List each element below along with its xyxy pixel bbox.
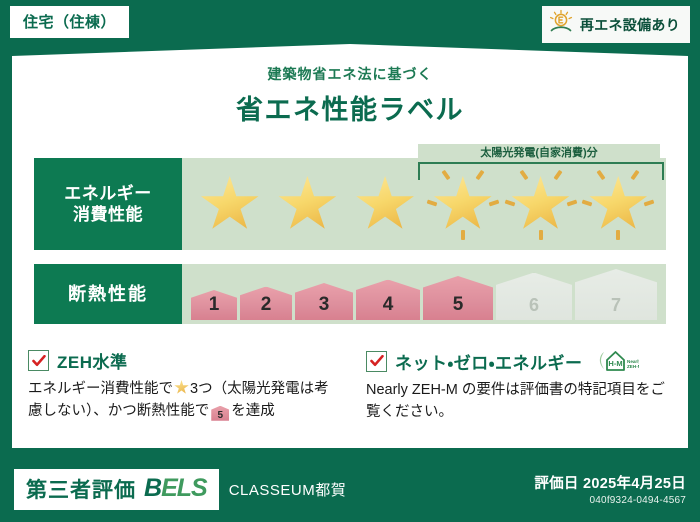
insulation-grade-item: 1 — [191, 290, 237, 320]
zeh-standard-description: エネルギー消費性能で3つ（太陽光発電は考慮しない）、かつ断熱性能で5を達成 — [28, 379, 334, 423]
building-name: CLASSEUM都賀 — [229, 479, 347, 500]
bels-logo-b: B — [144, 474, 161, 502]
energy-stars-area: 太陽光発電(自家消費)分 — [182, 158, 666, 250]
bels-logo: BELS — [144, 474, 207, 503]
info-section: ZEH水準 エネルギー消費性能で3つ（太陽光発電は考慮しない）、かつ断熱性能で5… — [12, 348, 688, 424]
insulation-grade-value: 2 — [261, 294, 272, 320]
star-icon — [433, 176, 493, 234]
insulation-grade-value: 1 — [209, 294, 220, 320]
insulation-grade-item: 7 — [575, 269, 657, 320]
star-icon — [588, 176, 648, 234]
star-icon — [200, 176, 260, 234]
net-zero-energy-column: ネット・ゼロ・エネルギー H-M Nearly ZEH-M Nearly ZEH… — [350, 348, 688, 424]
energy-performance-label: 住宅（住棟） 再エネ設備あり 建築物省エネ法に基づく 省エネ性能ラベル ハウスコ… — [0, 0, 700, 522]
check-icon — [366, 351, 387, 372]
star-sparkle-icon — [539, 230, 543, 240]
sun-renewable-icon — [548, 9, 574, 40]
insulation-grade-value: 5 — [453, 294, 464, 320]
net-zero-energy-title: ネット・ゼロ・エネルギー — [395, 349, 583, 374]
building-type-badge: 住宅（住棟） — [10, 6, 129, 38]
star-sparkle-icon — [582, 200, 593, 207]
renewable-energy-badge: 再エネ設備あり — [542, 6, 690, 43]
insulation-performance-row: 断熱性能 1234567 — [34, 264, 666, 324]
energy-label-line1: エネルギー — [64, 183, 152, 204]
insulation-grade-group: 1234567 — [182, 264, 666, 324]
star-icon — [174, 380, 189, 395]
star-icon — [277, 176, 337, 234]
star-sparkle-icon — [461, 230, 465, 240]
zeh-desc-part1: エネルギー消費性能で — [28, 381, 173, 397]
zeh-standard-title: ZEH水準 — [57, 348, 128, 373]
insulation-grade-item: 4 — [356, 280, 420, 321]
net-zero-energy-heading: ネット・ゼロ・エネルギー H-M Nearly ZEH-M — [366, 348, 672, 374]
building-type-label: 住宅（住棟） — [23, 14, 116, 31]
footer-bar: 第三者評価 BELS CLASSEUM都賀 評価日 2025年4月25日 040… — [0, 456, 700, 522]
insulation-grade-item: 3 — [295, 283, 353, 320]
renewable-energy-label: 再エネ設備あり — [580, 15, 680, 35]
label-main-title: 省エネ性能ラベル — [0, 88, 700, 127]
insulation-grade-value: 3 — [319, 294, 330, 320]
solar-portion-bracket — [418, 162, 664, 180]
check-icon — [28, 350, 49, 371]
zeh-m-logo: H-M Nearly ZEH-M — [595, 348, 639, 374]
star-rating-item — [194, 168, 266, 240]
zeh-standard-column: ZEH水準 エネルギー消費性能で3つ（太陽光発電は考慮しない）、かつ断熱性能で5… — [12, 348, 350, 424]
net-zero-energy-description: Nearly ZEH-M の要件は評価書の特記項目をご覧ください。 — [366, 380, 672, 424]
bels-logo-els: ELS — [161, 474, 207, 502]
energy-performance-row: エネルギー 消費性能 太陽光発電(自家消費)分 — [34, 158, 666, 250]
star-sparkle-icon — [488, 200, 499, 207]
insulation-grade-item: 5 — [423, 276, 493, 320]
bels-certification-badge: 第三者評価 BELS — [14, 469, 219, 510]
zeh-standard-heading: ZEH水準 — [28, 348, 334, 373]
footer-left-group: 第三者評価 BELS CLASSEUM都賀 — [14, 469, 346, 510]
insulation-grade-value: 4 — [383, 294, 394, 320]
zeh-desc-part3: を達成 — [231, 403, 275, 419]
star-sparkle-icon — [504, 200, 515, 207]
insulation-grades-area: 1234567 — [182, 264, 666, 324]
third-party-eval-label: 第三者評価 — [26, 474, 136, 504]
insulation-grade-item: 6 — [496, 273, 572, 321]
evaluation-id: 040f9324-0494-4567 — [534, 495, 686, 506]
energy-label-line2: 消費性能 — [64, 204, 152, 225]
insulation-grade-item: 2 — [240, 287, 292, 321]
energy-performance-row-label: エネルギー 消費性能 — [34, 158, 182, 250]
title-block: 建築物省エネ法に基づく 省エネ性能ラベル — [0, 64, 700, 127]
star-icon — [355, 176, 415, 234]
star-icon — [511, 176, 571, 234]
solar-portion-caption: 太陽光発電(自家消費)分 — [418, 144, 660, 160]
svg-text:ZEH-M: ZEH-M — [627, 364, 639, 369]
svg-text:H-M: H-M — [608, 359, 622, 368]
star-rating-item — [349, 168, 421, 240]
star-sparkle-icon — [644, 200, 655, 207]
insulation-grade-value: 6 — [529, 295, 539, 320]
evaluation-date: 評価日 2025年4月25日 — [534, 472, 686, 493]
label-subtitle: 建築物省エネ法に基づく — [0, 64, 700, 84]
star-sparkle-icon — [616, 230, 620, 240]
star-sparkle-icon — [426, 200, 437, 207]
star-rating-item — [271, 168, 343, 240]
insulation-grade-value: 7 — [611, 295, 621, 320]
footer-right-group: 評価日 2025年4月25日 040f9324-0494-4567 — [534, 472, 686, 506]
insulation-row-label: 断熱性能 — [34, 264, 182, 324]
star-sparkle-icon — [566, 200, 577, 207]
house-grade-icon: 5 — [211, 406, 229, 421]
